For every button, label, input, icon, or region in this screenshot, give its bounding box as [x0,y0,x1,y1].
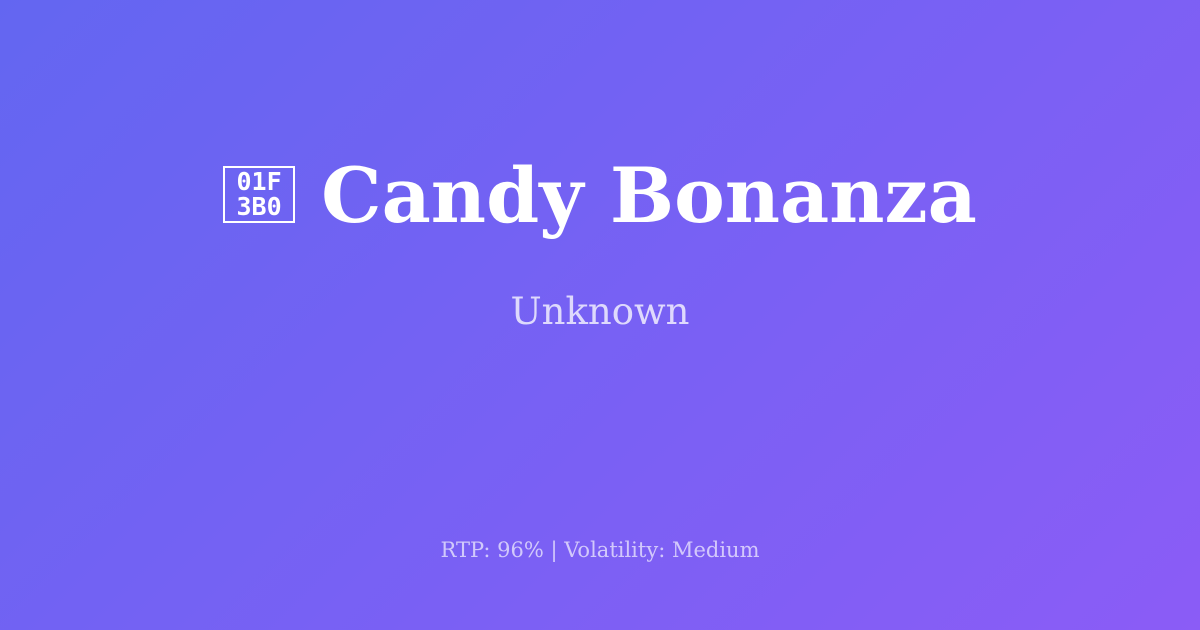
card-content: 01F 3B0 Candy Bonanza Unknown [0,0,1200,490]
tofu-hex-top: 01F [237,169,282,194]
slot-machine-icon: 01F 3B0 [223,166,295,223]
tofu-hex-bottom: 3B0 [237,194,282,219]
og-share-card: 01F 3B0 Candy Bonanza Unknown RTP: 96% |… [0,0,1200,630]
card-footer: RTP: 96% | Volatility: Medium [0,537,1200,564]
page-title: Candy Bonanza [321,156,977,235]
title-row: 01F 3B0 Candy Bonanza [223,156,977,235]
game-stats-line: RTP: 96% | Volatility: Medium [441,537,760,564]
card-subtitle: Unknown [510,290,689,334]
